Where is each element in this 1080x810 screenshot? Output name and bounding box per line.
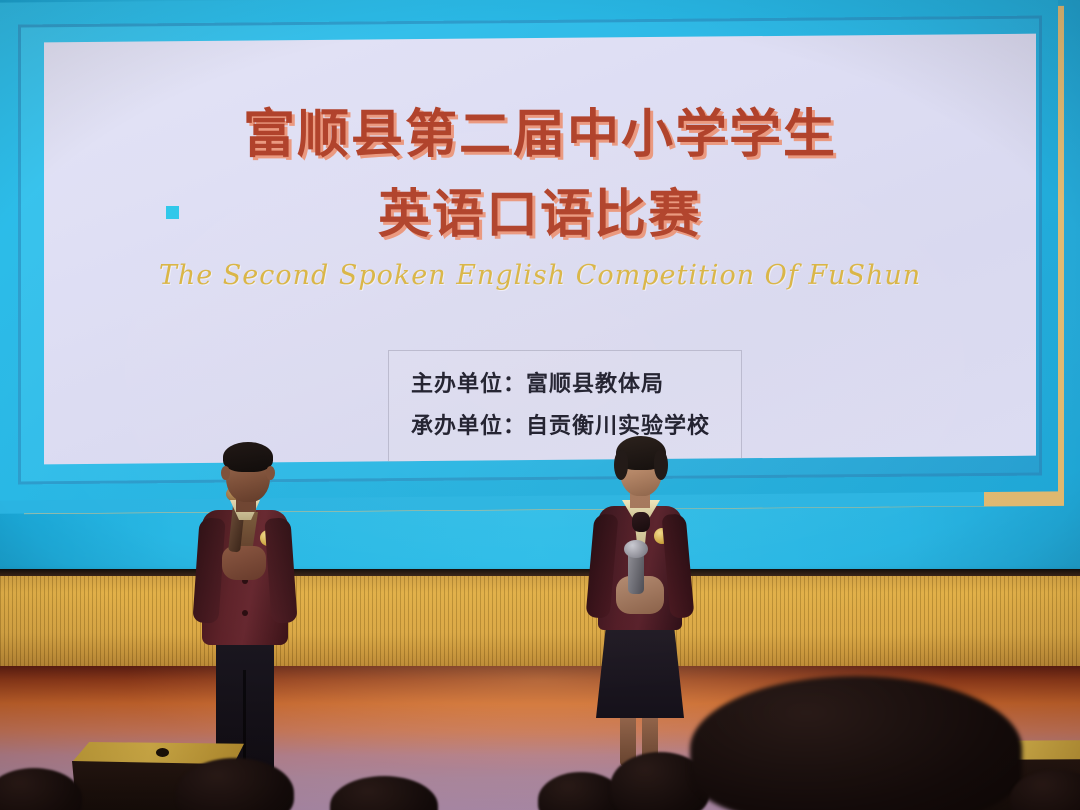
monitor-left-hole	[156, 748, 169, 757]
boy-hands	[222, 546, 266, 580]
girl-skirt	[596, 620, 684, 718]
boy-hair	[223, 442, 273, 472]
slide-title-line-1: 富顺县第二届中小学学生	[44, 100, 1036, 170]
girl-bow-tie	[632, 512, 650, 532]
girl-hair-side-left	[614, 450, 628, 480]
boy-ear-left	[221, 466, 230, 480]
boy-blazer-button-lower	[242, 610, 248, 616]
slide-title-block: 富顺县第二届中小学学生 英语口语比赛 The Second Spoken Eng…	[44, 100, 1036, 291]
person-girl-presenter	[566, 428, 716, 768]
person-boy-presenter	[176, 438, 326, 768]
wood-slat-panel	[0, 576, 1080, 668]
screenshot-root: 富顺县第二届中小学学生 英语口语比赛 The Second Spoken Eng…	[0, 0, 1080, 810]
slide-subtitle-english: The Second Spoken English Competition Of…	[44, 260, 1036, 291]
audience-head-foreground	[690, 676, 1022, 810]
slide-title-line-2: 英语口语比赛	[44, 180, 1036, 250]
organizer-row-host: 主办单位：富顺县教体局	[389, 363, 741, 405]
projection-screen: 富顺县第二届中小学学生 英语口语比赛 The Second Spoken Eng…	[24, 10, 1064, 510]
girl-microphone-head	[624, 540, 648, 558]
girl-hair-side-right	[654, 450, 668, 480]
presentation-slide: 富顺县第二届中小学学生 英语口语比赛 The Second Spoken Eng…	[44, 34, 1036, 465]
boy-ear-right	[266, 466, 275, 480]
